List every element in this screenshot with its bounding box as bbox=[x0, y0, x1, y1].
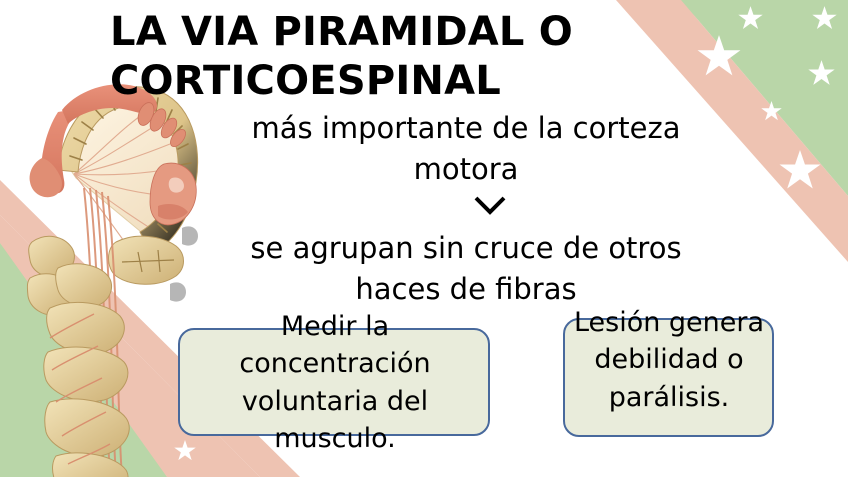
star-icon bbox=[738, 6, 762, 29]
callout-left-text: Medir la concentración voluntaria del mu… bbox=[190, 308, 480, 457]
slide-canvas: LA VIA PIRAMIDAL O CORTICOESPINAL más im… bbox=[0, 0, 848, 477]
body-paragraph-top: más importante de la corteza motora bbox=[216, 108, 716, 190]
chevron-down-icon bbox=[470, 192, 510, 218]
star-icon bbox=[761, 101, 781, 120]
star-icon bbox=[808, 60, 834, 85]
star-icon bbox=[780, 150, 821, 188]
star-icon bbox=[812, 6, 836, 29]
grey-cap-upper bbox=[182, 226, 198, 245]
page-title: LA VIA PIRAMIDAL O CORTICOESPINAL bbox=[110, 8, 710, 106]
body-paragraph-bottom: se agrupan sin cruce de otros haces de f… bbox=[216, 228, 716, 310]
corticospinal-tract-illustration bbox=[6, 46, 206, 477]
grey-cap-lower bbox=[170, 282, 186, 301]
callout-right-text: Lesión genera debilidad o parálisis. bbox=[562, 304, 776, 416]
